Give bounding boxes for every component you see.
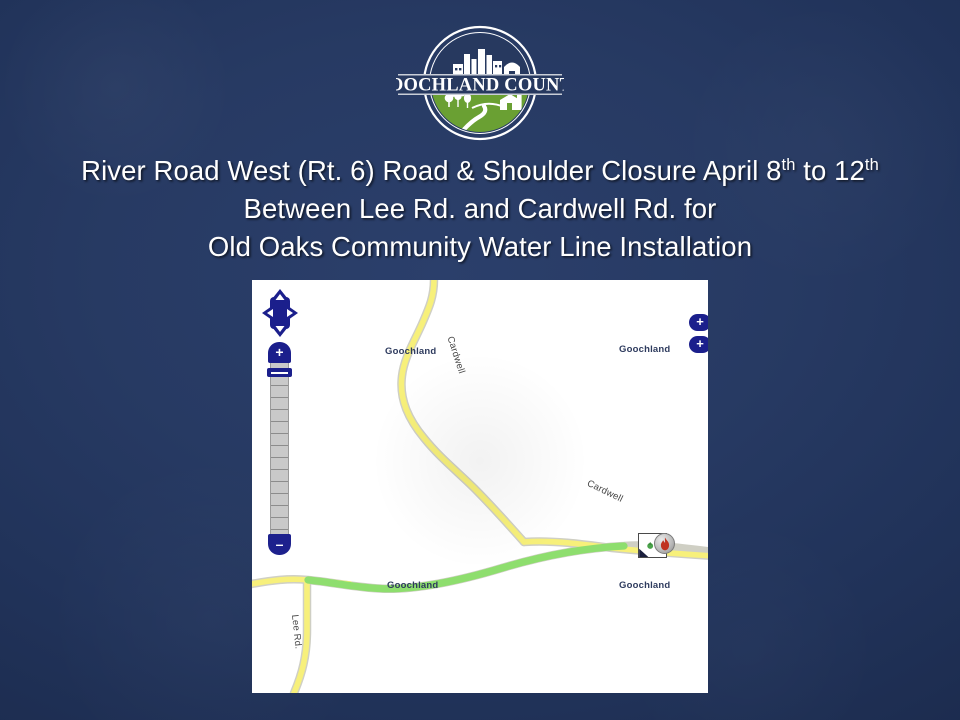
place-label-goochland-se: Goochland [619,580,670,591]
zoom-slider-track[interactable] [270,361,289,537]
title-ordinal-1: th [782,156,796,174]
closure-map[interactable]: Goochland Goochland Goochland Goochland … [252,280,708,693]
incident-marker-east[interactable] [654,533,675,554]
zoom-in-button[interactable]: + [268,342,291,363]
title-ordinal-2: th [865,156,879,174]
title-line-1: River Road West (Rt. 6) Road & Shoulder … [0,152,960,190]
zoom-slider-handle[interactable] [267,368,292,377]
title-line-1-part-a: River Road West (Rt. 6) Road & Shoulder … [81,155,781,186]
road-casing-cardwell [401,280,524,542]
title-line-2: Between Lee Rd. and Cardwell Rd. for [0,190,960,228]
slide-canvas: GOOCHLAND COUNTY River Road West (Rt. 6)… [0,0,960,720]
title-line-1-part-b: to 12 [796,155,865,186]
page-title: River Road West (Rt. 6) Road & Shoulder … [0,152,960,266]
goochland-county-seal-icon: GOOCHLAND COUNTY [396,22,564,144]
zoom-out-button[interactable]: – [268,534,291,555]
map-roads-layer [252,280,708,693]
incident-flame-icon-east [659,537,670,550]
map-tool-button-2[interactable]: + [689,336,708,353]
place-label-goochland-nw: Goochland [385,346,436,357]
goochland-county-logo: GOOCHLAND COUNTY [396,22,564,144]
logo-wordmark: GOOCHLAND COUNTY [396,76,564,96]
place-label-goochland-center: Goochland [387,580,438,591]
pan-control[interactable] [261,288,299,338]
place-label-goochland-ne: Goochland [619,344,670,355]
zoom-slider[interactable]: + – [268,342,291,555]
title-line-3: Old Oaks Community Water Line Installati… [0,228,960,266]
pan-control-icon[interactable] [261,288,299,338]
map-tool-button-1[interactable]: + [689,314,708,331]
